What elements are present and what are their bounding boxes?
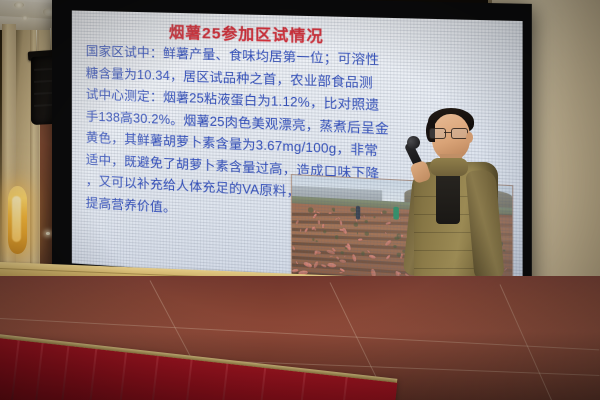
- photo-worker: [393, 207, 399, 220]
- rigging-wire: [36, 30, 37, 52]
- photo-foliage: [323, 230, 326, 233]
- photo-sweet-potato: [322, 223, 325, 228]
- photo-foliage: [335, 235, 339, 239]
- photo-foliage: [364, 220, 368, 224]
- photo-worker: [356, 206, 360, 220]
- ceiling-downlight-icon: [22, 16, 28, 20]
- ear: [466, 132, 473, 143]
- photo-foliage: [354, 222, 358, 226]
- photo-foliage: [357, 232, 359, 234]
- presentation-photo: 烟薯25参加区试情况 国家区试中：鲜薯产量、食味均居第一位；可溶性 糖含量为10…: [0, 0, 600, 400]
- vest-collar: [430, 158, 468, 176]
- slide-title: 烟薯25参加区试情况: [169, 21, 324, 47]
- photo-sweet-potato: [318, 220, 320, 225]
- sconce-glow: [12, 196, 21, 242]
- photo-foliage: [394, 245, 397, 248]
- ceiling-downlight-icon: [14, 2, 24, 8]
- photo-foliage: [365, 232, 369, 236]
- photo-foliage: [308, 208, 313, 213]
- photo-sweet-potato: [384, 232, 387, 235]
- photo-foliage: [345, 247, 347, 249]
- photo-foliage: [333, 210, 335, 213]
- photo-sweet-potato: [358, 239, 363, 242]
- photo-foliage: [351, 207, 356, 212]
- photo-foliage: [341, 252, 343, 254]
- photo-foliage: [383, 210, 387, 214]
- photo-foliage: [397, 234, 402, 239]
- photo-foliage: [316, 240, 318, 242]
- photo-sweet-potato: [339, 220, 342, 225]
- photo-foliage: [396, 252, 401, 257]
- glasses-icon: [429, 128, 469, 137]
- photo-foliage: [373, 216, 375, 218]
- photo-foliage: [361, 252, 365, 256]
- photo-sweet-potato: [363, 215, 365, 218]
- rigging-wire: [50, 28, 51, 50]
